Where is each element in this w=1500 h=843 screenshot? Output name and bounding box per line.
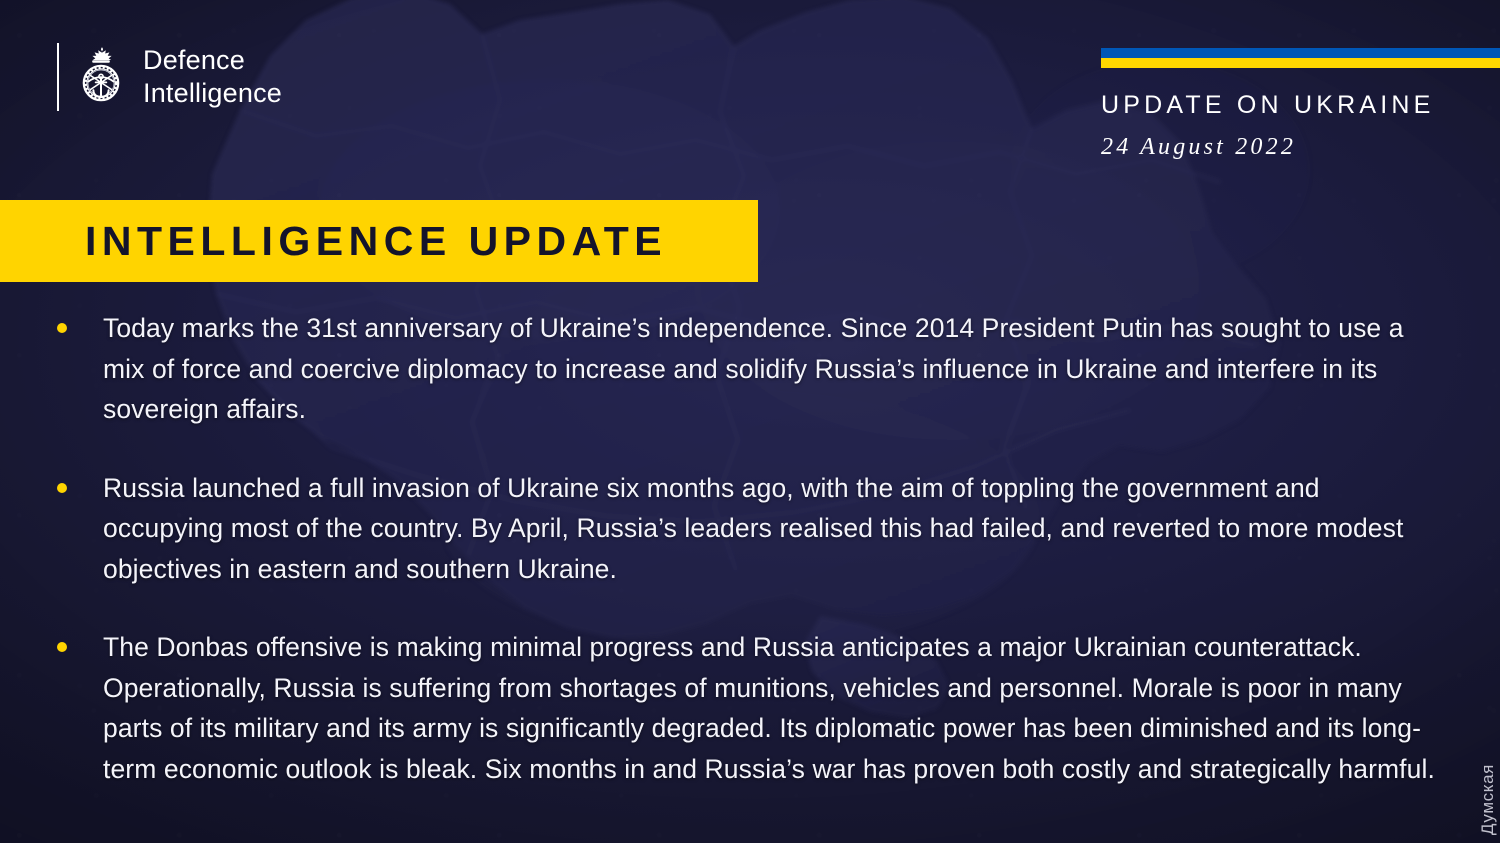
bullet-list: Today marks the 31st anniversary of Ukra… [57, 308, 1447, 789]
bullet-text: The Donbas offensive is making minimal p… [103, 627, 1447, 789]
list-item: The Donbas offensive is making minimal p… [57, 627, 1447, 789]
defence-intelligence-logo: Defence Intelligence [57, 43, 282, 111]
intelligence-update-banner: INTELLIGENCE UPDATE [0, 200, 758, 282]
list-item: Today marks the 31st anniversary of Ukra… [57, 308, 1447, 430]
flag-stripe-blue [1101, 48, 1500, 58]
bullet-text: Russia launched a full invasion of Ukrai… [103, 468, 1447, 590]
source-watermark: Думская [1478, 764, 1498, 835]
header-right-block: UPDATE ON UKRAINE 24 August 2022 [1101, 48, 1500, 161]
list-item: Russia launched a full invasion of Ukrai… [57, 468, 1447, 590]
uk-defence-intelligence-crest-icon [75, 45, 127, 109]
page-title: INTELLIGENCE UPDATE [85, 218, 667, 265]
logo-wordmark-line2: Intelligence [143, 77, 282, 110]
logo-wordmark: Defence Intelligence [143, 44, 282, 110]
bullet-text: Today marks the 31st anniversary of Ukra… [103, 308, 1447, 430]
flag-stripe-yellow [1101, 58, 1500, 68]
bullet-dot-icon [57, 483, 67, 493]
intelligence-update-poster: Defence Intelligence UPDATE ON UKRAINE 2… [0, 0, 1500, 843]
logo-wordmark-line1: Defence [143, 44, 282, 77]
header-kicker: UPDATE ON UKRAINE [1101, 91, 1500, 120]
ukraine-flag-bar-icon [1101, 48, 1500, 68]
header-date: 24 August 2022 [1101, 134, 1500, 161]
logo-divider-rule [57, 43, 59, 111]
bullet-dot-icon [57, 323, 67, 333]
bullet-dot-icon [57, 642, 67, 652]
